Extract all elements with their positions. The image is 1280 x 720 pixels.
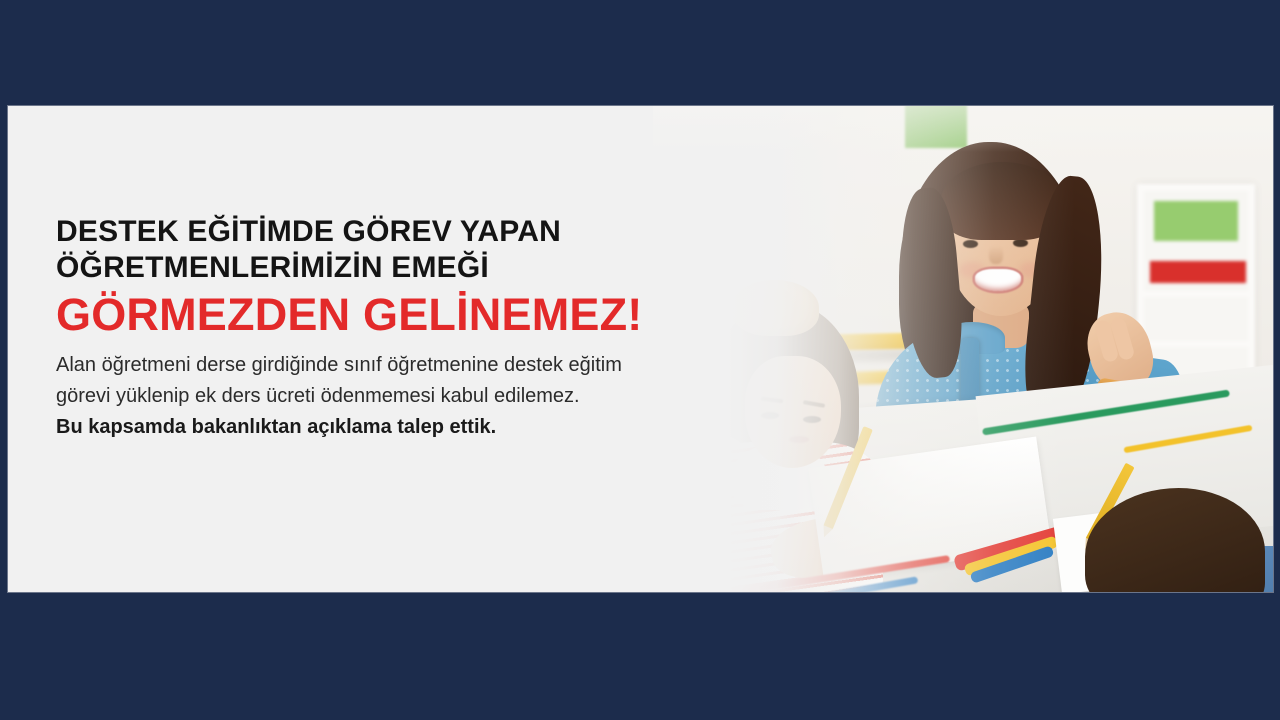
photo-left-fade [653,106,1273,592]
body-copy: Alan öğretmeni derse girdiğinde sınıf öğ… [56,350,728,443]
headline-line-1: DESTEK EĞİTİMDE GÖREV YAPAN [56,214,728,250]
photo-top-fade [653,106,1273,152]
body-emphasis-line: Bu kapsamda bakanlıktan açıklama talep e… [56,412,728,443]
headline-highlight: GÖRMEZDEN GELİNEMEZ! [56,289,728,341]
page-background: DESTEK EĞİTİMDE GÖREV YAPAN ÖĞRETMENLERİ… [0,0,1280,720]
headline-line-2: ÖĞRETMENLERİMİZİN EMEĞİ [56,250,728,286]
body-line-2: görevi yüklenip ek ders ücreti ödenmemes… [56,381,728,412]
banner-panel: DESTEK EĞİTİMDE GÖREV YAPAN ÖĞRETMENLERİ… [8,106,1273,592]
body-line-1: Alan öğretmeni derse girdiğinde sınıf öğ… [56,350,728,381]
classroom-photo [653,106,1273,592]
banner-copy: DESTEK EĞİTİMDE GÖREV YAPAN ÖĞRETMENLERİ… [8,106,728,592]
